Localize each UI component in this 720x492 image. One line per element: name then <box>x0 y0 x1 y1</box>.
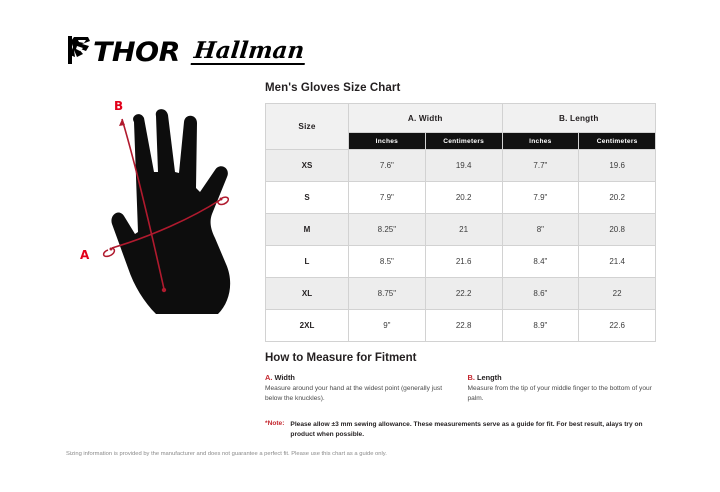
table-row: S 7.9" 20.2 7.9" 20.2 <box>266 182 656 214</box>
measure-width-letter: A. <box>265 373 272 382</box>
column-header-width-inches: Inches <box>349 133 426 150</box>
column-group-header-length: B. Length <box>502 104 656 133</box>
diagram-label-a: A <box>80 248 90 262</box>
cell-length-inches: 8" <box>502 214 579 246</box>
measure-instruction-width: A. Width Measure around your hand at the… <box>265 373 454 403</box>
cell-width-inches: 7.9" <box>349 182 426 214</box>
cell-length-inches: 8.9" <box>502 310 579 342</box>
cell-length-centimeters: 20.8 <box>579 214 656 246</box>
column-header-length-centimeters: Centimeters <box>579 133 656 150</box>
cell-width-inches: 9" <box>349 310 426 342</box>
table-row: M 8.25" 21 8" 20.8 <box>266 214 656 246</box>
measure-width-heading: A. Width <box>265 373 454 382</box>
cell-length-centimeters: 20.2 <box>579 182 656 214</box>
measure-instruction-length: B. Length Measure from the tip of your m… <box>468 373 657 403</box>
measure-width-name: Width <box>274 373 294 382</box>
column-header-width-centimeters: Centimeters <box>425 133 502 150</box>
table-group-header-row: Size A. Width B. Length <box>266 104 656 133</box>
cell-size: L <box>266 246 349 278</box>
hand-measurement-diagram: B A <box>72 96 264 318</box>
cell-width-inches: 8.5" <box>349 246 426 278</box>
thor-wordmark: THOR <box>93 39 180 66</box>
table-row: 2XL 9" 22.8 8.9" 22.6 <box>266 310 656 342</box>
cell-length-inches: 7.7" <box>502 150 579 182</box>
brand-logo-bar: THOR Hallman <box>66 33 306 71</box>
measure-length-text: Measure from the tip of your middle fing… <box>468 384 657 403</box>
cell-width-centimeters: 21.6 <box>425 246 502 278</box>
measure-length-name: Length <box>477 373 502 382</box>
size-chart-panel: Men's Gloves Size Chart Size A. Width B.… <box>265 82 656 342</box>
how-to-measure-title: How to Measure for Fitment <box>265 352 656 364</box>
cell-size: XS <box>266 150 349 182</box>
cell-length-centimeters: 22.6 <box>579 310 656 342</box>
footer-disclaimer: Sizing information is provided by the ma… <box>66 450 396 460</box>
hallman-wordmark: Hallman <box>190 39 307 65</box>
cell-width-centimeters: 22.2 <box>425 278 502 310</box>
table-row: XL 8.75" 22.2 8.6" 22 <box>266 278 656 310</box>
cell-length-centimeters: 22 <box>579 278 656 310</box>
thor-hammer-mark-icon <box>66 35 92 70</box>
cell-width-inches: 8.25" <box>349 214 426 246</box>
cell-size: M <box>266 214 349 246</box>
cell-length-centimeters: 21.4 <box>579 246 656 278</box>
column-header-size: Size <box>266 104 349 150</box>
cell-length-inches: 7.9" <box>502 182 579 214</box>
thor-logo: THOR <box>66 35 176 70</box>
column-header-length-inches: Inches <box>502 133 579 150</box>
cell-width-centimeters: 21 <box>425 214 502 246</box>
measure-length-heading: B. Length <box>468 373 657 382</box>
table-row: L 8.5" 21.6 8.4" 21.4 <box>266 246 656 278</box>
measure-length-letter: B. <box>468 373 475 382</box>
cell-width-centimeters: 20.2 <box>425 182 502 214</box>
cell-size: 2XL <box>266 310 349 342</box>
page-title: Men's Gloves Size Chart <box>265 82 656 94</box>
cell-width-inches: 8.75" <box>349 278 426 310</box>
cell-width-centimeters: 19.4 <box>425 150 502 182</box>
note-label: *Note: <box>265 420 284 440</box>
note-block: *Note: Please allow ±3 mm sewing allowan… <box>265 420 656 440</box>
note-text: Please allow ±3 mm sewing allowance. The… <box>290 420 656 440</box>
how-to-measure-section: How to Measure for Fitment A. Width Meas… <box>265 352 656 403</box>
cell-length-centimeters: 19.6 <box>579 150 656 182</box>
diagram-label-b: B <box>114 99 123 113</box>
cell-size: S <box>266 182 349 214</box>
size-chart-table: Size A. Width B. Length Inches Centimete… <box>265 103 656 342</box>
column-group-header-width: A. Width <box>349 104 503 133</box>
measure-width-text: Measure around your hand at the widest p… <box>265 384 454 403</box>
cell-length-inches: 8.4" <box>502 246 579 278</box>
table-row: XS 7.6" 19.4 7.7" 19.6 <box>266 150 656 182</box>
cell-width-centimeters: 22.8 <box>425 310 502 342</box>
cell-size: XL <box>266 278 349 310</box>
cell-length-inches: 8.6" <box>502 278 579 310</box>
cell-width-inches: 7.6" <box>349 150 426 182</box>
